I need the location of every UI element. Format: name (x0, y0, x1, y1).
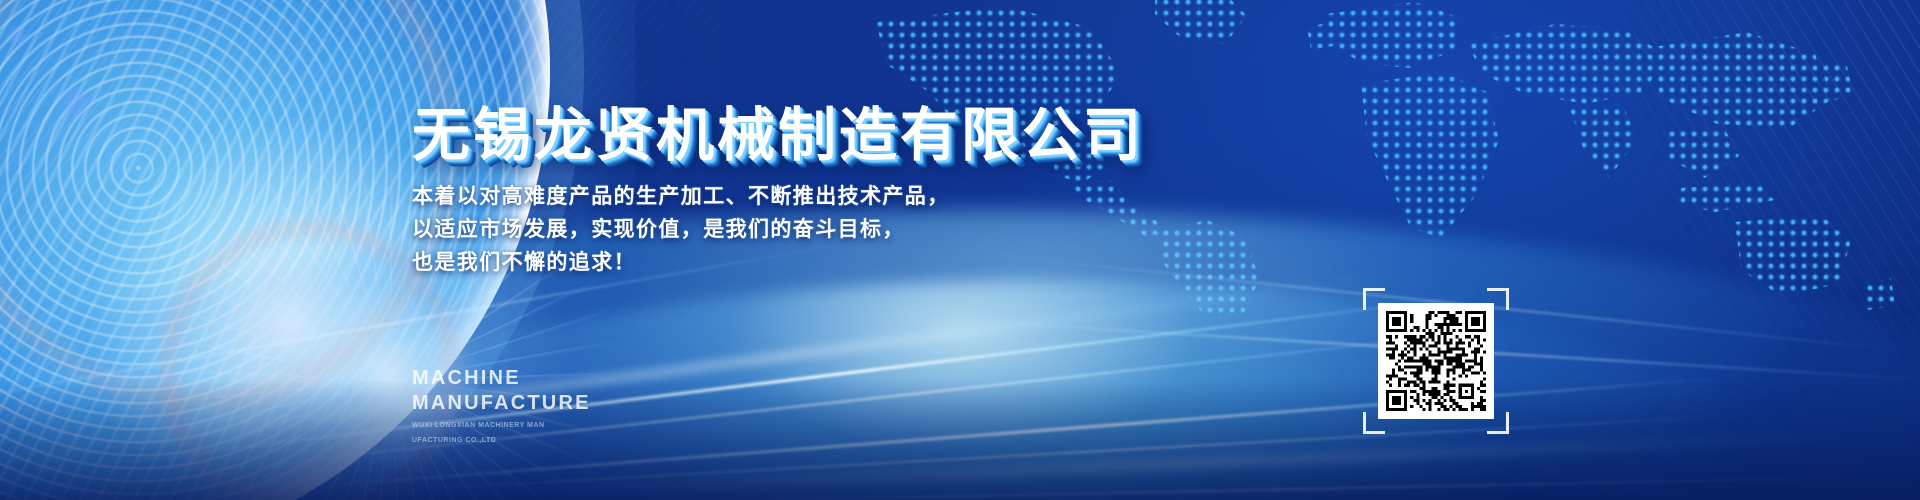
subtitle-line-1: 本着以对高难度产品的生产加工、不断推出技术产品， (412, 180, 950, 213)
subtitle-line-3: 也是我们不懈的追求！ (412, 246, 950, 279)
company-title-text: 无锡龙贤机械制造有限公司 (412, 101, 1144, 169)
qr-code-icon[interactable] (1386, 311, 1486, 411)
company-title: 无锡龙贤机械制造有限公司 (412, 88, 1144, 172)
promo-banner: 无锡龙贤机械制造有限公司 本着以对高难度产品的生产加工、不断推出技术产品， 以适… (0, 0, 1920, 500)
subtitle-block: 本着以对高难度产品的生产加工、不断推出技术产品， 以适应市场发展，实现价值，是我… (412, 180, 950, 279)
english-tagline-line-2: MANUFACTURE (412, 391, 591, 416)
english-subtagline-line-1: WUXI LONGXIAN MACHINERY MAN (412, 421, 591, 431)
english-tagline-line-1: MACHINE (412, 366, 591, 391)
qr-code-frame[interactable] (1363, 288, 1509, 434)
english-tagline-block: MACHINE MANUFACTURE WUXI LONGXIAN MACHIN… (412, 366, 591, 445)
english-subtagline-line-2: UFACTURING CO.,LTD (412, 436, 591, 446)
banner-content: 无锡龙贤机械制造有限公司 本着以对高难度产品的生产加工、不断推出技术产品， 以适… (0, 0, 1920, 500)
qr-code-card[interactable] (1378, 303, 1494, 419)
subtitle-line-2: 以适应市场发展，实现价值，是我们的奋斗目标， (412, 213, 950, 246)
